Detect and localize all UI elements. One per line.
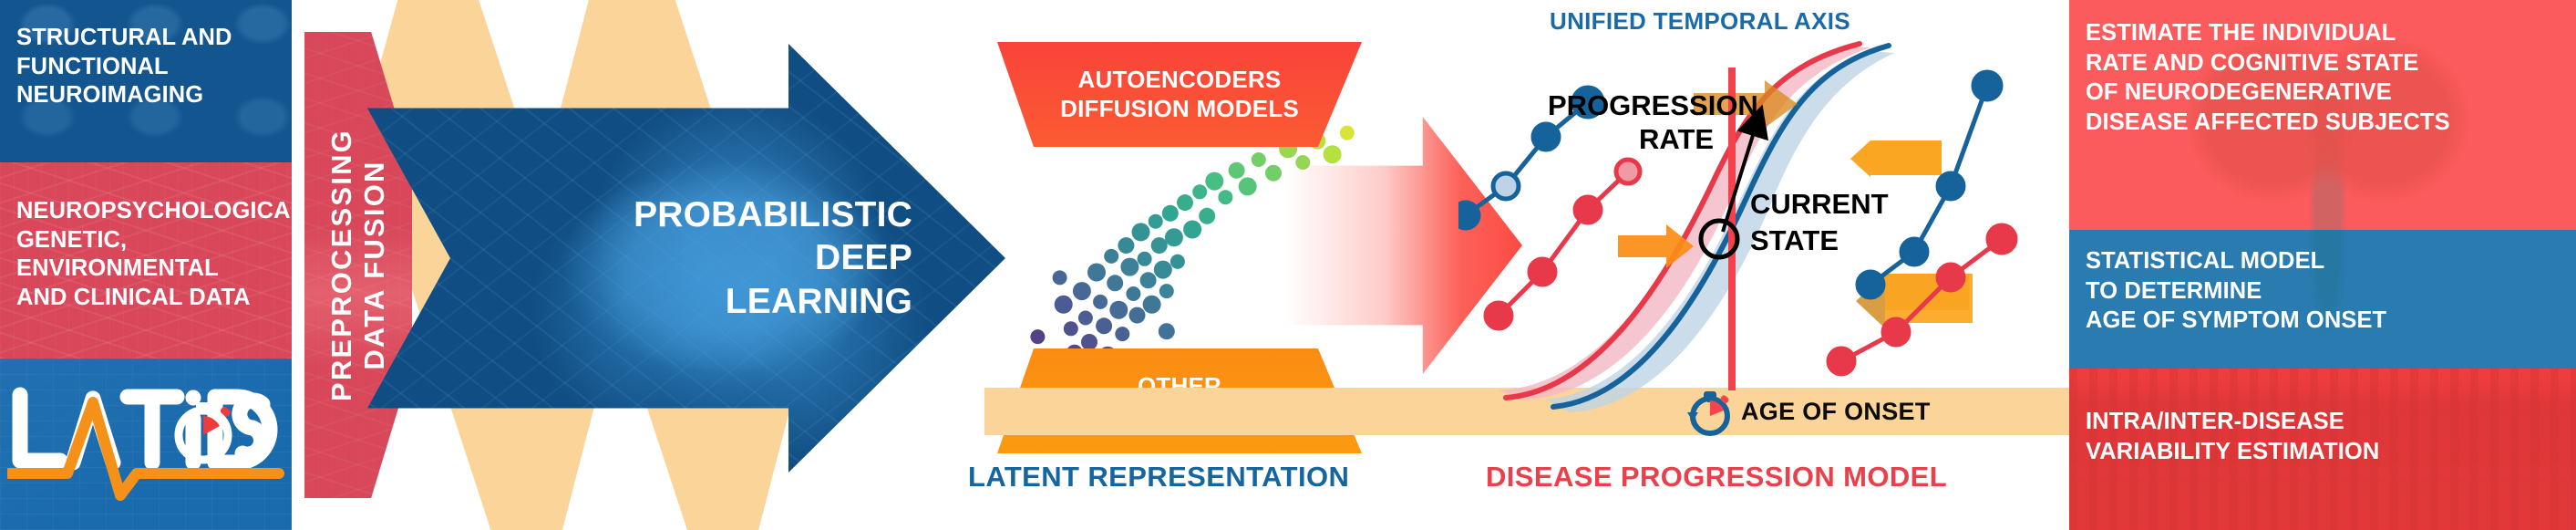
scatter-point [1120,258,1139,276]
scatter-point [1140,272,1157,288]
scatter-point [1183,221,1201,239]
subject-chain-blue-right [1858,72,2001,297]
latidos-wordmark-svg [7,371,284,517]
scatter-point [1064,321,1078,336]
output-block-statistical: STATISTICAL MODEL TO DETERMINE AGE OF SY… [2069,230,2576,369]
scatter-point [1107,275,1123,291]
scatter-point [1073,282,1091,300]
scatter-point [1143,296,1161,314]
scatter-point [1265,165,1282,182]
scatter-point [1177,194,1193,211]
autoencoders-label: AUTOENCODERS DIFFUSION MODELS [1060,66,1299,123]
scatter-point [1053,270,1067,285]
scatter-point [1252,152,1266,167]
unified-temporal-axis-label: UNIFIED TEMPORAL AXIS [1550,7,1850,36]
progression-rate-label-line1: PROGRESSION [1548,89,1758,121]
graphical-abstract: STRUCTURAL AND FUNCTIONAL NEUROIMAGING N… [0,0,2576,530]
statistical-label: STATISTICAL MODEL TO DETERMINE AGE OF SY… [2069,230,2576,336]
scatter-point [1170,255,1185,269]
scatter-point [1138,252,1152,266]
scatter-point [1118,237,1134,254]
latent-representation-label: LATENT REPRESENTATION [968,461,1349,494]
scatter-point [1115,327,1129,341]
current-state-label-line1: CURRENT [1750,188,1889,220]
neuroimaging-label: STRUCTURAL AND FUNCTIONAL NEUROIMAGING [0,0,292,110]
age-of-onset-badge: AGE OF ONSET [1685,383,1931,440]
logo-block [0,359,292,530]
age-of-onset-label: AGE OF ONSET [1741,398,1931,426]
scatter-point [1229,162,1245,179]
scatter-point [1154,261,1172,279]
clinical-label: NEUROPSYCHOLOGICAL, GENETIC, ENVIRONMENT… [0,162,292,312]
input-block-clinical: NEUROPSYCHOLOGICAL, GENETIC, ENVIRONMENT… [0,162,292,359]
scatter-point [1239,177,1257,195]
scatter-point [1109,301,1128,319]
scatter-point [1199,208,1215,224]
scatter-point [1324,145,1342,163]
scatter-point [1081,334,1097,350]
output-column: ESTIMATE THE INDIVIDUAL RATE AND COGNITI… [2069,0,2576,530]
current-state-label-line2: STATE [1750,224,1839,256]
autoencoders-trapezoid: AUTOENCODERS DIFFUSION MODELS [997,42,1362,147]
scatter-point [1126,286,1140,301]
scatter-point [1055,296,1073,314]
scatter-point [1192,184,1207,199]
scatter-point [1218,190,1232,204]
output-block-variability: INTRA/INTER-DISEASE VARIABILITY ESTIMATI… [2069,369,2576,530]
scatter-point [1151,237,1168,254]
stopwatch-reset-icon [1685,385,1732,438]
latidos-logo [0,359,292,530]
scatter-point [1104,249,1118,264]
disease-progression-plot: PROGRESSION RATE CURRENT STATE [1458,7,2097,445]
variability-label: INTRA/INTER-DISEASE VARIABILITY ESTIMATI… [2069,369,2576,466]
scatter-point [1093,295,1108,309]
scatter-point [1078,311,1093,326]
scatter-point [1096,317,1112,334]
scatter-point [1149,214,1163,229]
scatter-point [1132,223,1150,241]
input-data-column: STRUCTURAL AND FUNCTIONAL NEUROIMAGING N… [0,0,292,530]
scatter-point [1159,323,1175,339]
scatter-point [1162,205,1179,222]
scatter-point [1159,284,1174,298]
scatter-point [1087,264,1106,282]
deep-learning-label-wrap: PROBABILISTIC DEEP LEARNING [367,44,933,473]
scatter-point [1129,307,1146,324]
input-block-neuroimaging: STRUCTURAL AND FUNCTIONAL NEUROIMAGING [0,0,292,162]
scatter-point [1030,329,1045,344]
output-block-estimate: ESTIMATE THE INDIVIDUAL RATE AND COGNITI… [2069,0,2576,230]
scatter-point [1205,172,1223,191]
scatter-point [1165,228,1183,246]
progression-rate-label-line2: RATE [1639,123,1714,155]
disease-progression-model-label: DISEASE PROGRESSION MODEL [1486,461,1947,494]
estimate-label: ESTIMATE THE INDIVIDUAL RATE AND COGNITI… [2069,0,2576,138]
scatter-point [1340,126,1355,140]
deep-learning-label: PROBABILISTIC DEEP LEARNING [634,193,912,324]
